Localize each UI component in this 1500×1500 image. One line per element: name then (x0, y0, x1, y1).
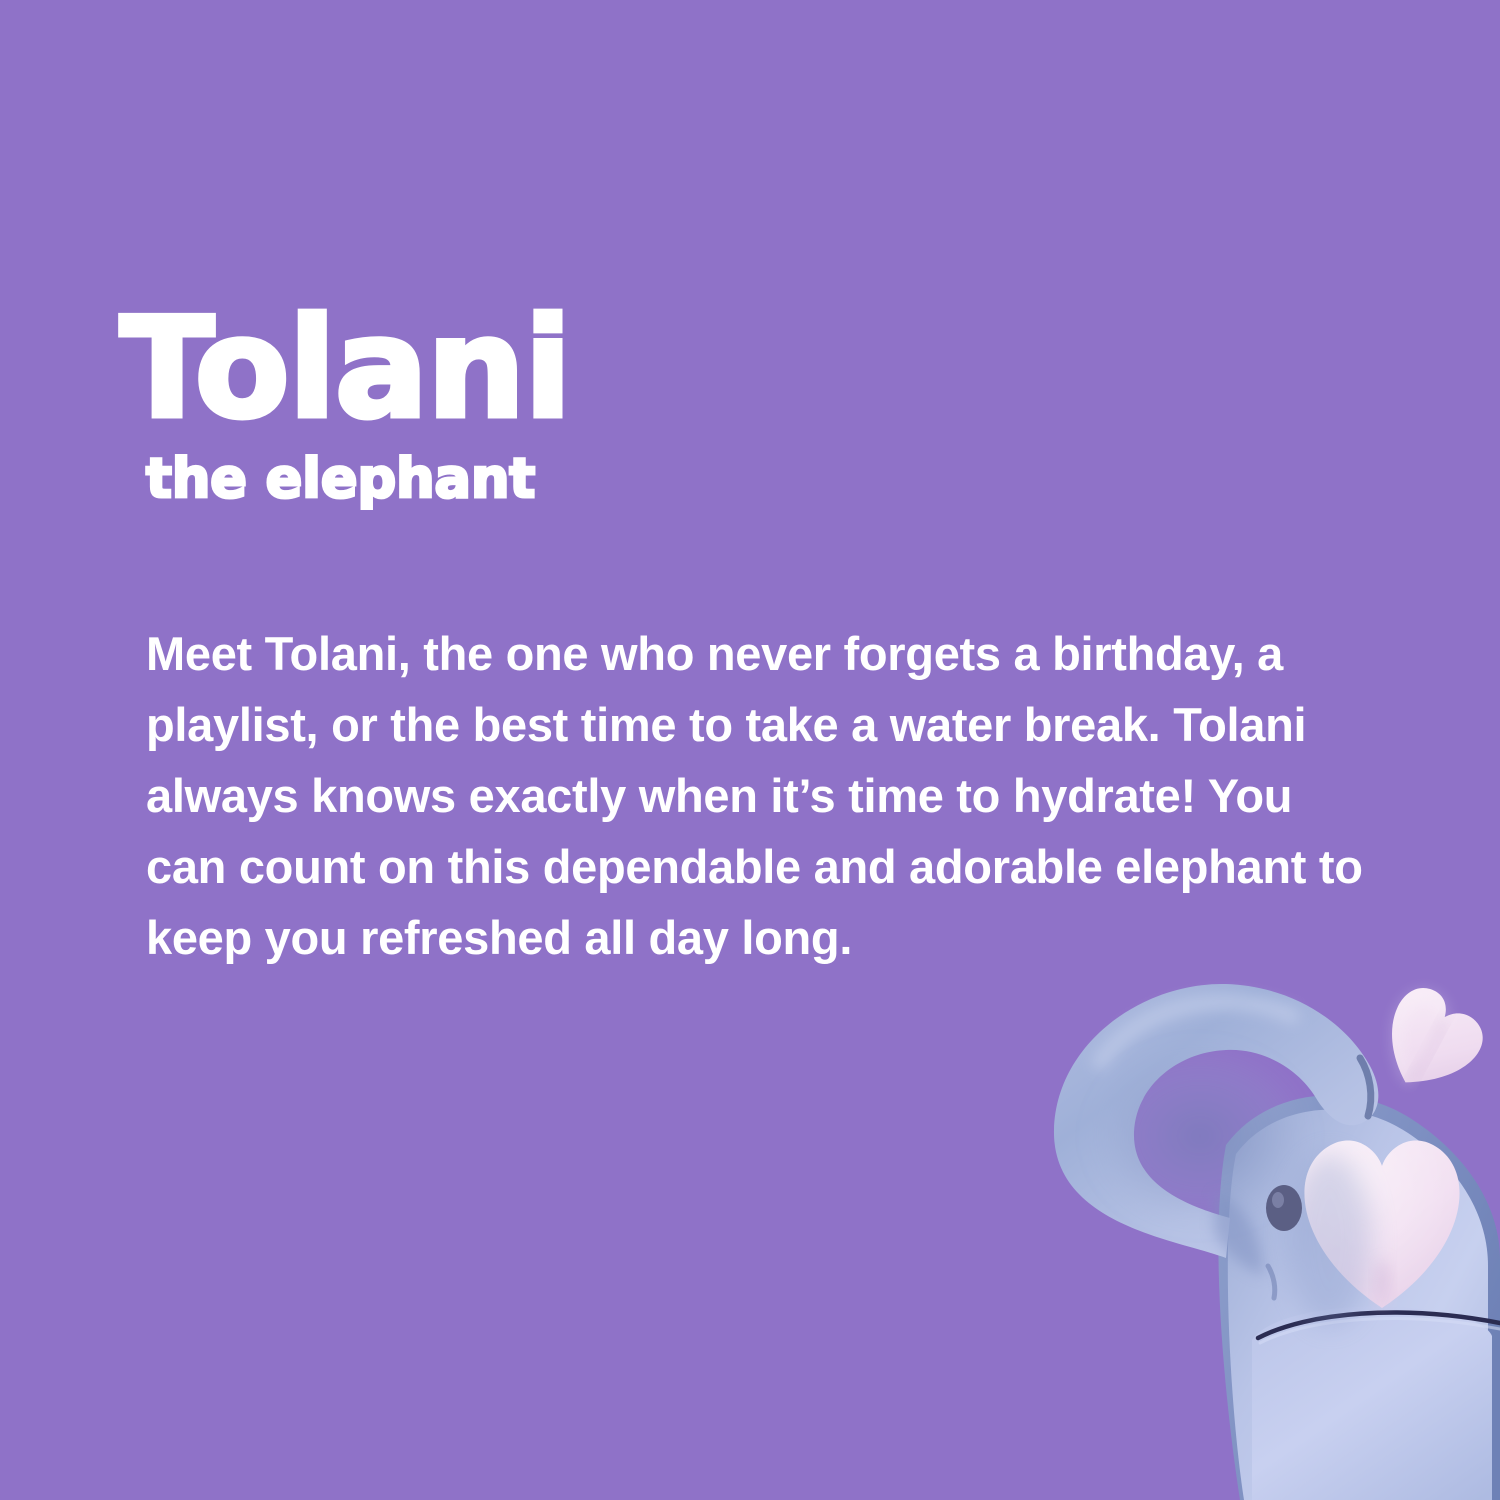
trunk-tip-heart (1368, 979, 1494, 1106)
elephant-eye (1266, 1185, 1302, 1231)
tolani-elephant-illustration (1030, 940, 1500, 1500)
page-title: Tolani (120, 300, 571, 438)
page-subtitle: the elephant (146, 452, 535, 506)
character-description: Meet Tolani, the one who never forgets a… (146, 618, 1376, 973)
elephant-eye-highlight (1272, 1192, 1284, 1208)
trunk-curl-shadow (1100, 1054, 1300, 1218)
ear-cast-shadow (1288, 1154, 1372, 1326)
character-profile-card: Tolani the elephant Meet Tolani, the one… (0, 0, 1500, 1500)
elephant-lower-body (1252, 1307, 1492, 1500)
